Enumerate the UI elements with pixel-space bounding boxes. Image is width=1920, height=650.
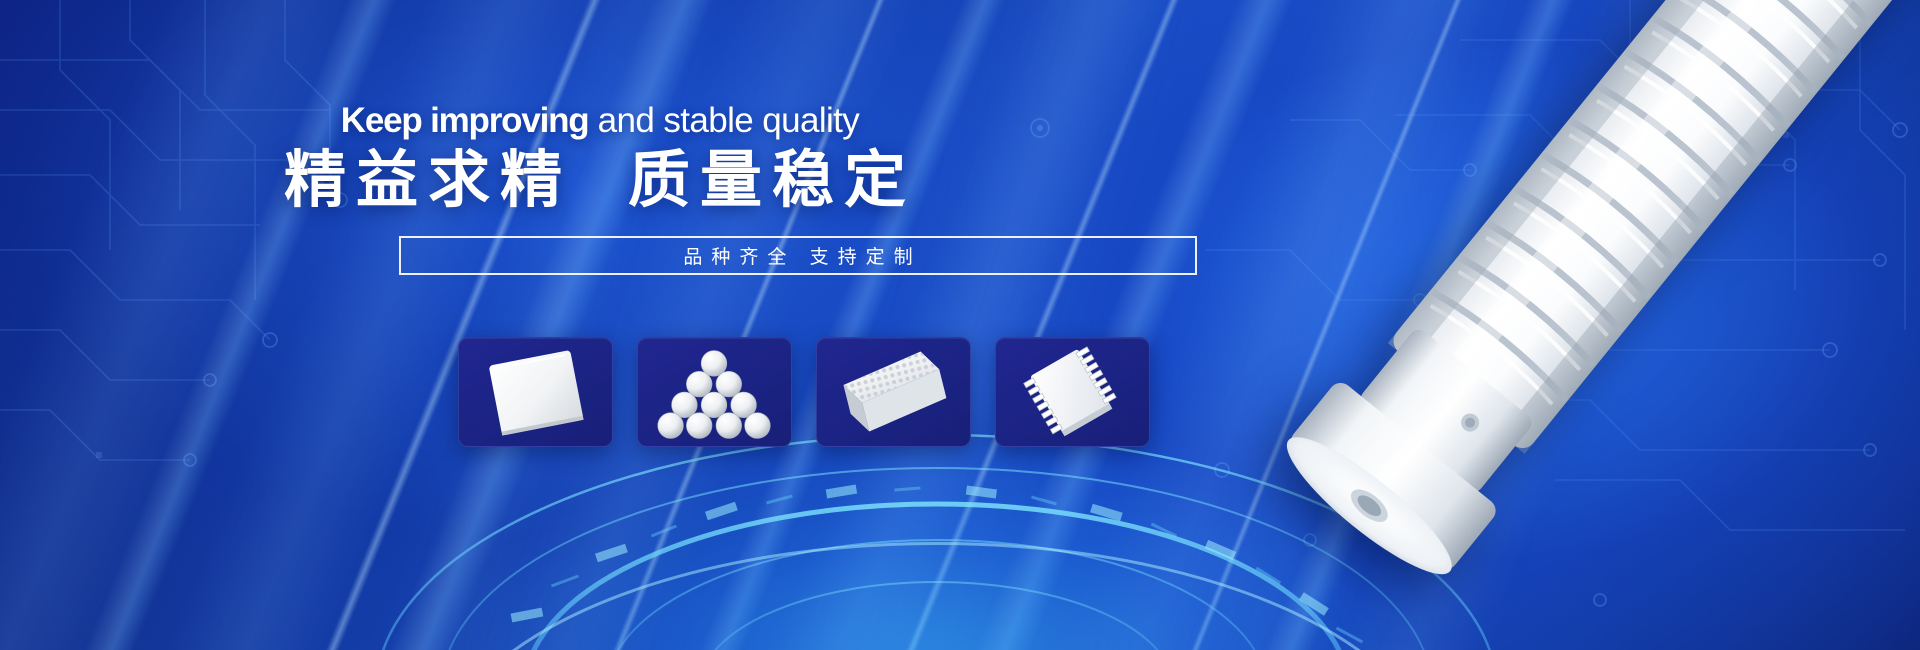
honeycomb-ceramic-icon <box>817 337 970 447</box>
ceramic-balls-icon <box>638 337 791 447</box>
headline-right: 质量稳定 <box>628 146 916 215</box>
product-card-honeycomb-ceramic[interactable] <box>816 337 971 447</box>
product-card-ceramic-comb-block[interactable] <box>995 337 1150 447</box>
ceramic-comb-block-icon <box>996 337 1149 447</box>
product-card-ceramic-plate[interactable] <box>458 337 613 447</box>
ceramic-plate-icon <box>459 337 612 447</box>
headline-left: 精益求精 <box>284 146 572 215</box>
banner-content: Keep improving and stable quality 精益求精质量… <box>0 0 1200 650</box>
english-tagline-bold: Keep improving <box>341 101 589 140</box>
english-tagline-regular: and stable quality <box>588 101 859 140</box>
promo-banner: Keep improving and stable quality 精益求精质量… <box>0 0 1920 650</box>
product-card-ceramic-balls[interactable] <box>637 337 792 447</box>
english-tagline: Keep improving and stable quality <box>0 103 1200 140</box>
subtitle-text: 品种齐全 支持定制 <box>674 242 921 269</box>
product-thumbnail-row <box>458 337 1150 447</box>
subtitle-bar: 品种齐全 支持定制 <box>399 236 1197 275</box>
page-title: 精益求精质量稳定 <box>0 146 1200 215</box>
corrugated-ceramic-bellows-icon <box>1200 0 1920 650</box>
